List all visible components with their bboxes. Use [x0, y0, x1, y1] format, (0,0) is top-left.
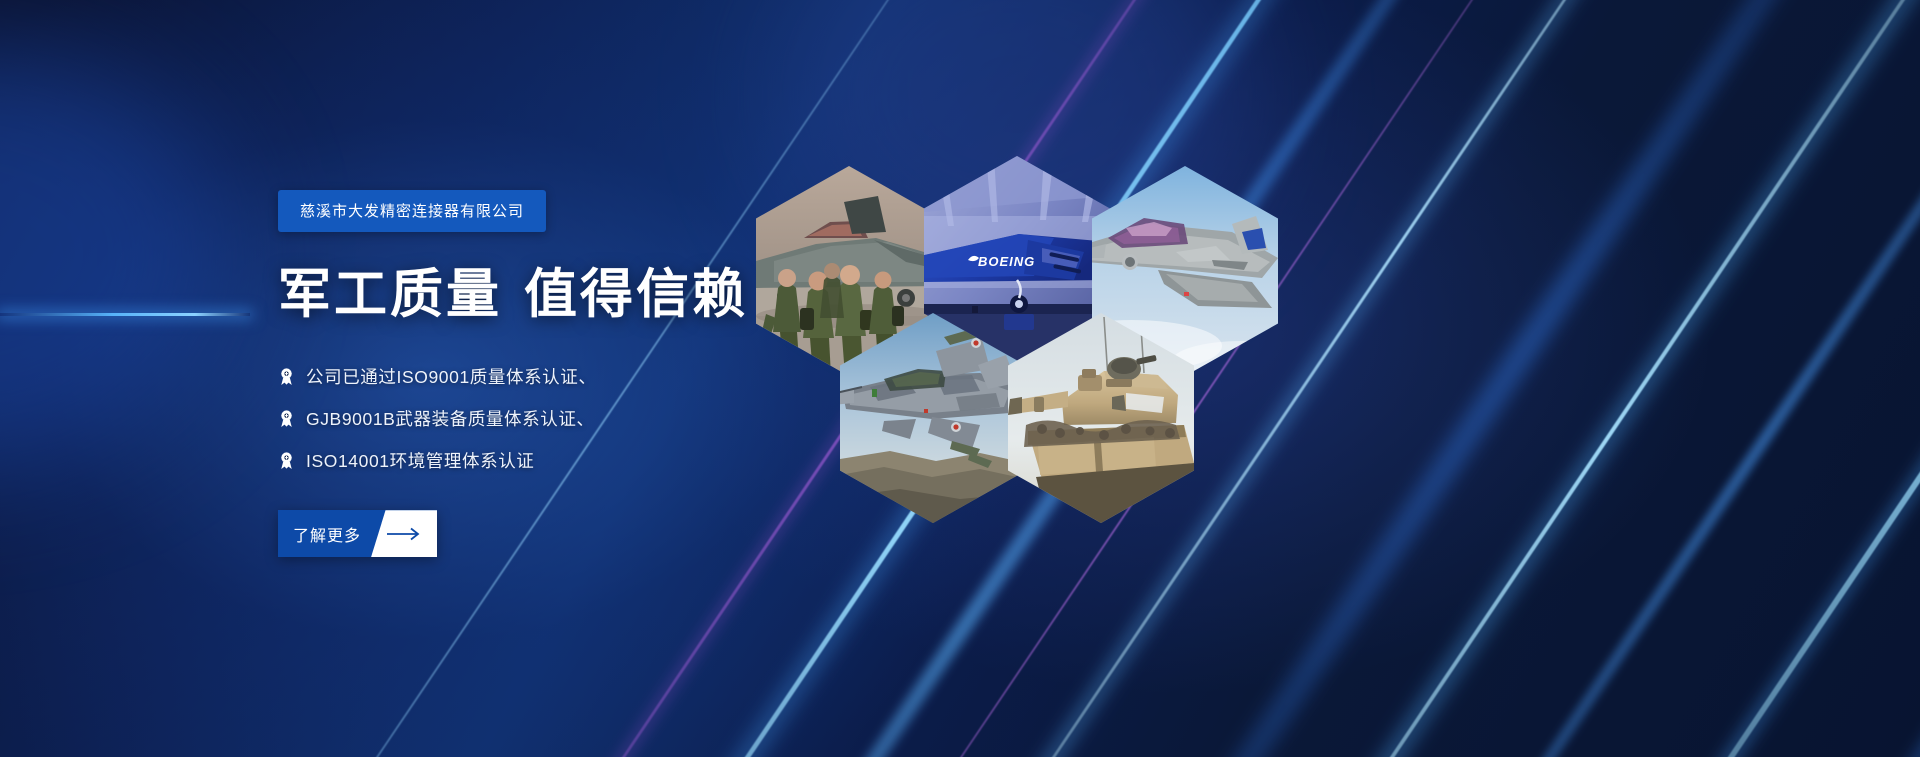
horizontal-light-beam	[0, 313, 250, 316]
glow-blob-left	[0, 39, 230, 469]
hexagon-image-cluster: BOEING	[752, 128, 1292, 500]
medal-icon	[278, 367, 295, 386]
learn-more-label: 了解更多	[293, 510, 361, 557]
streak-8	[1486, 0, 1920, 757]
headline-part-1: 军工质量	[278, 265, 502, 324]
learn-more-button[interactable]: 了解更多	[278, 510, 437, 557]
list-item-label: 公司已通过ISO9001质量体系认证、	[306, 364, 596, 389]
medal-icon	[278, 409, 295, 428]
company-name-badge: 慈溪市大发精密连接器有限公司	[278, 190, 546, 232]
streak-9	[1669, 0, 1920, 757]
medal-icon	[278, 451, 295, 470]
arrow-right-icon	[386, 510, 424, 557]
hero-banner: 慈溪市大发精密连接器有限公司 军工质量值得信赖 公司已通过ISO9001质量体系…	[0, 0, 1920, 757]
list-item-label: ISO14001环境管理体系认证	[306, 448, 534, 473]
list-item-label: GJB9001B武器装备质量体系认证、	[306, 406, 595, 431]
headline-part-2: 值得信赖	[524, 265, 748, 324]
svg-text:BOEING: BOEING	[978, 254, 1035, 269]
